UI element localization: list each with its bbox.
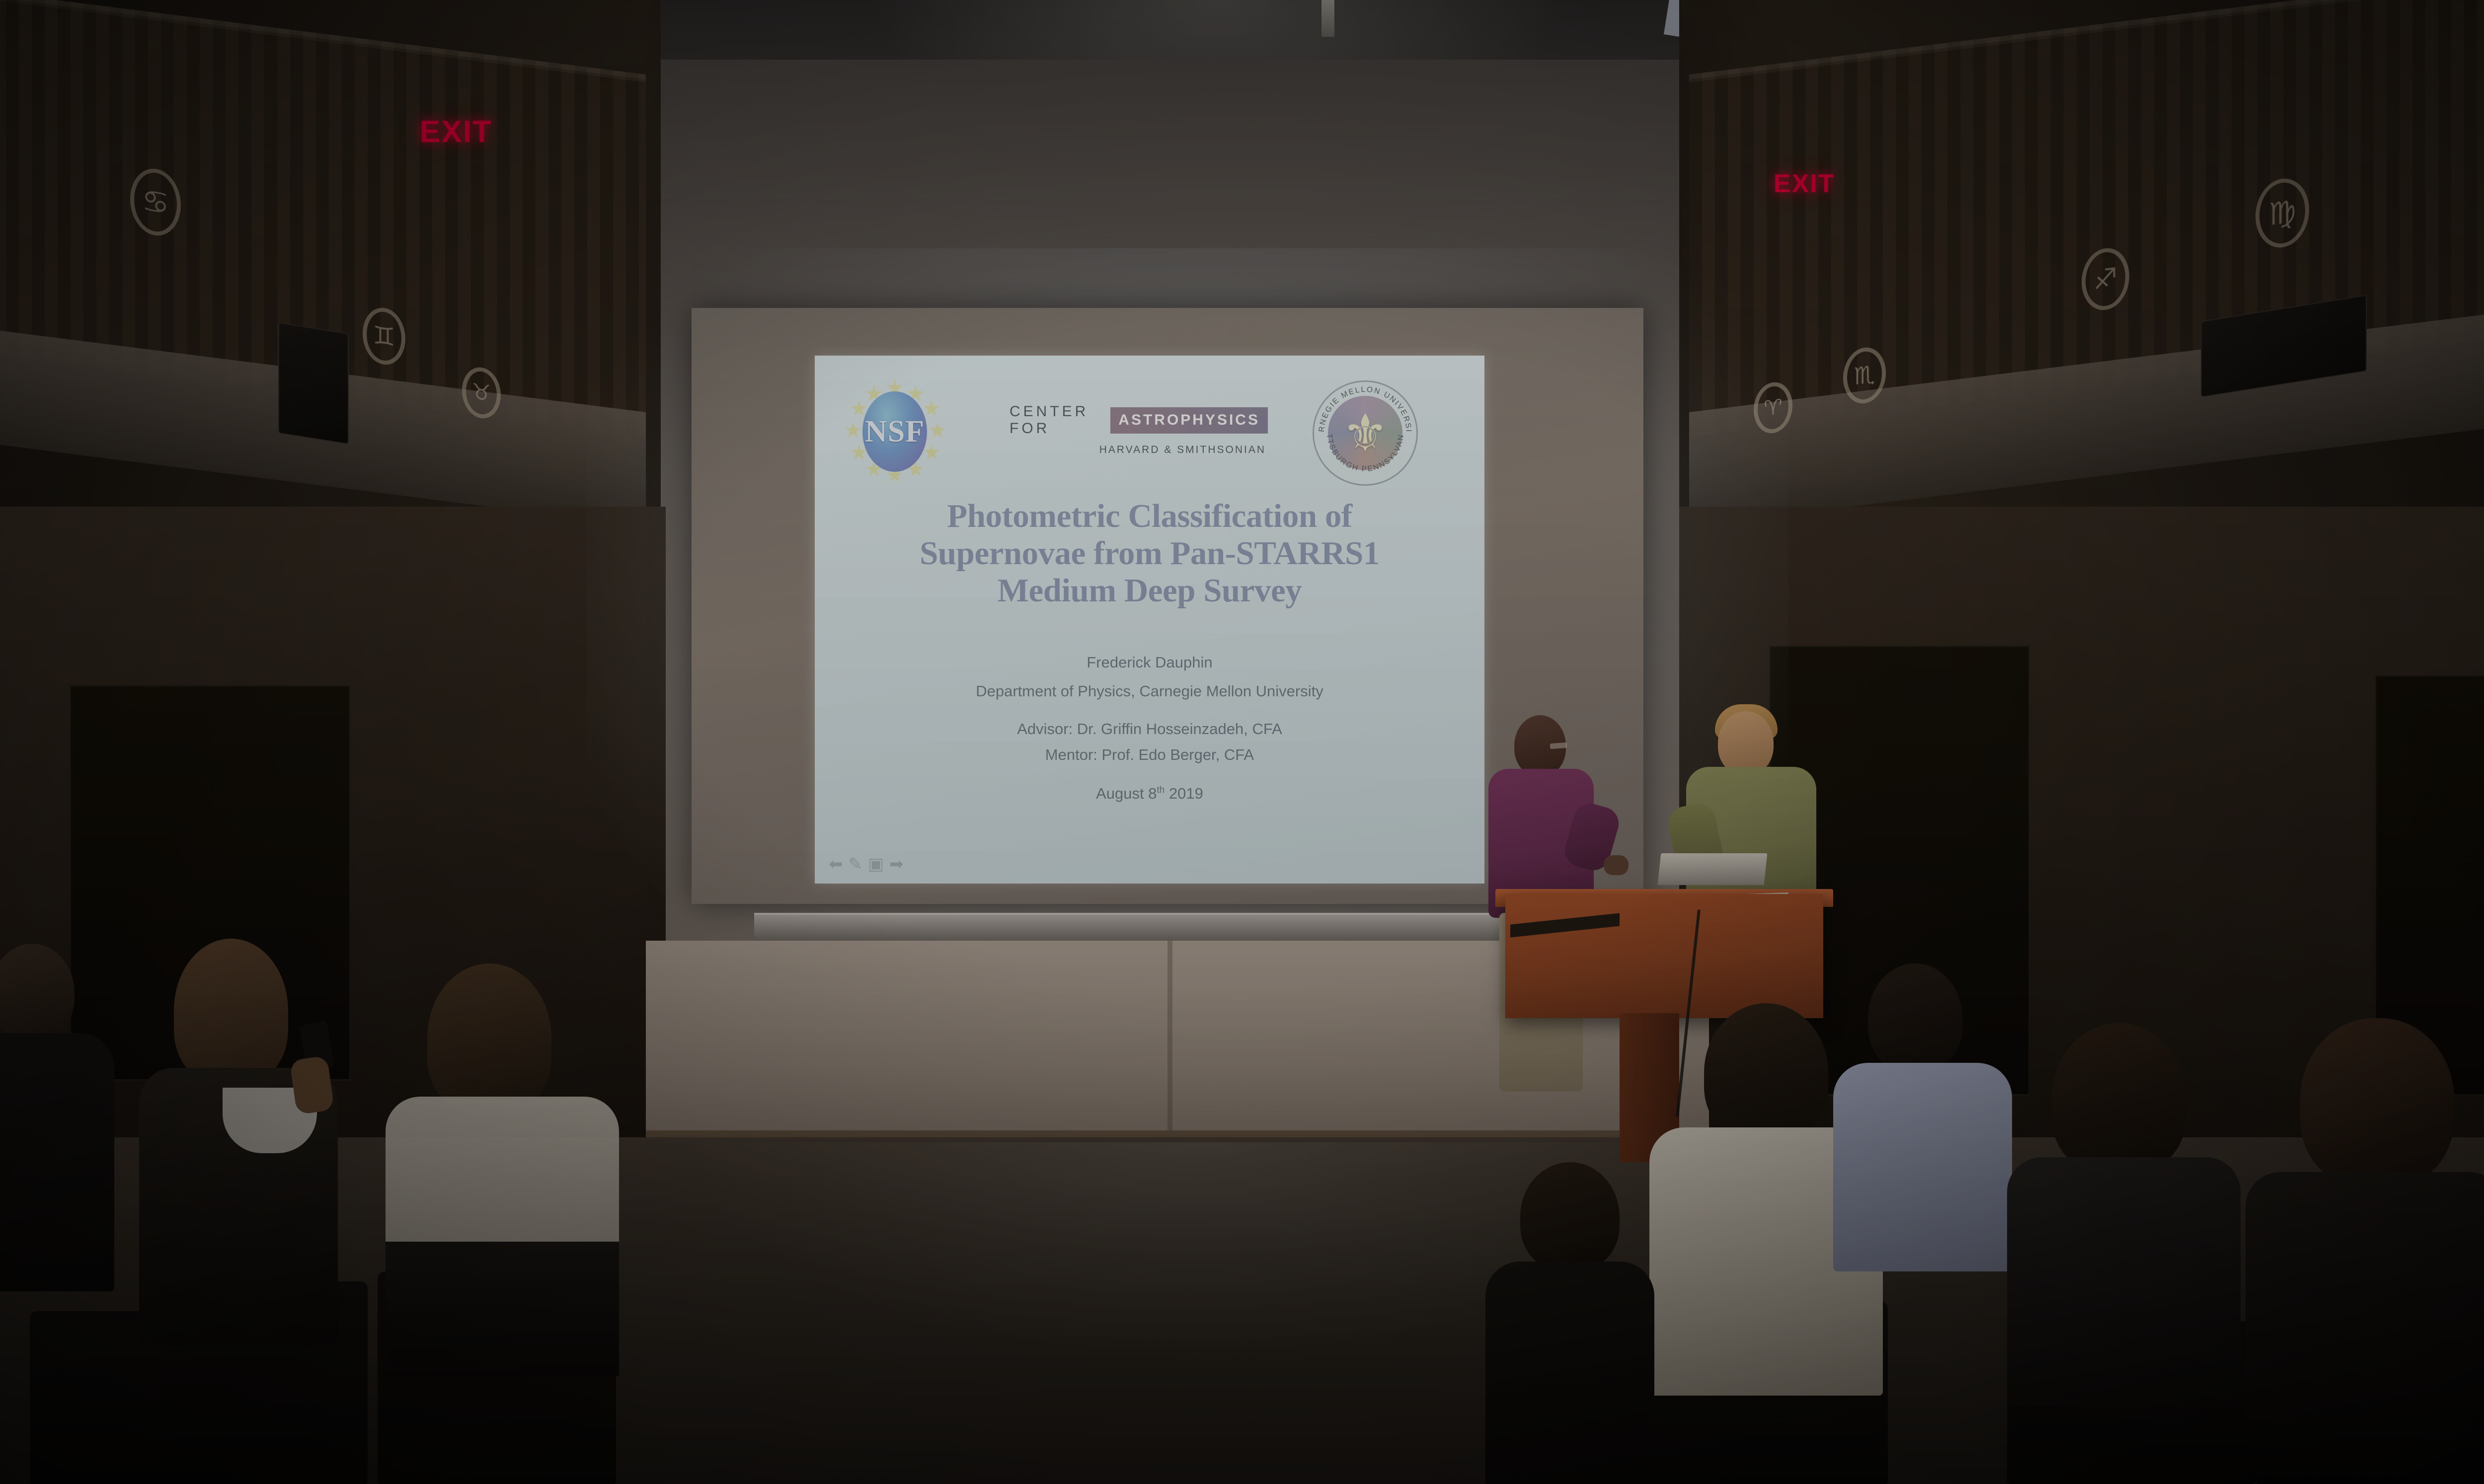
list-item	[139, 939, 348, 1336]
list-item	[368, 964, 626, 1371]
slide-menu-icon[interactable]: ▣	[868, 856, 884, 873]
audience-head	[1520, 1162, 1620, 1271]
svg-text:CARNEGIE MELLON UNIVERSITY: CARNEGIE MELLON UNIVERSITY	[1314, 382, 1413, 433]
audience-torso	[0, 1033, 114, 1291]
slide-date-ordinal: th	[1157, 785, 1164, 796]
audience-blue-shirt	[1833, 1063, 2012, 1271]
exit-sign-left: EXIT	[420, 114, 492, 149]
presenter-glasses	[1550, 742, 1567, 749]
next-slide-icon[interactable]: ➡	[889, 856, 904, 873]
audience-head	[2300, 1018, 2454, 1187]
lecture-hall-photo: ♋ ♊ ♉ ♈ ♏ ♐ ♍ ♎ EXIT EXIT	[0, 0, 2484, 1484]
cmu-seal: ⚜ CARNEGIE MELLON UNIVERSITY PITTSBURGH …	[1313, 380, 1418, 486]
list-item	[1490, 1162, 1649, 1484]
slide-title-line-2: Supernovae from Pan-STARRS1	[845, 535, 1455, 572]
list-item	[0, 944, 129, 1291]
slide-title-line-3: Medium Deep Survey	[845, 572, 1455, 609]
slide-date-suffix: 2019	[1164, 785, 1203, 802]
audience-head	[1704, 1003, 1828, 1142]
svg-text:PITTSBURGH PENNSYLVANIA: PITTSBURGH PENNSYLVANIA	[1314, 382, 1405, 473]
audience-head	[1868, 964, 1962, 1073]
slide-date: August 8th 2019	[815, 785, 1484, 803]
powerpoint-controls: ⬅ ✎ ▣ ➡	[829, 856, 904, 873]
audience-torso	[2246, 1172, 2484, 1420]
nsf-logo: NSF	[849, 382, 941, 480]
slide-mentor: Mentor: Prof. Edo Berger, CFA	[815, 746, 1484, 764]
audience-head	[174, 939, 288, 1083]
cfa-astrophysics-badge: ASTROPHYSICS	[1118, 412, 1260, 428]
audience-arm	[290, 1055, 335, 1115]
whiteboard-tray	[754, 913, 1504, 943]
slide-affiliation: Department of Physics, Carnegie Mellon U…	[815, 682, 1484, 700]
exit-sign-right: EXIT	[1774, 169, 1835, 199]
audience-head	[427, 964, 551, 1113]
cfa-logo: CENTER FOR ASTROPHYSICS HARVARD & SMITHS…	[1009, 403, 1268, 468]
audience-torso	[1485, 1261, 1654, 1484]
podium	[1505, 894, 1823, 1018]
cfa-harvard-smithsonian-text: HARVARD & SMITHSONIAN	[1009, 444, 1268, 456]
slide-author: Frederick Dauphin	[815, 654, 1484, 671]
slide-title: Photometric Classification of Supernovae…	[815, 498, 1484, 609]
presenter-hand	[1604, 855, 1629, 875]
list-item	[2226, 1018, 2484, 1415]
list-item	[1997, 1023, 2255, 1401]
moderator-head	[1718, 711, 1774, 775]
cfa-center-for-text: CENTER FOR	[1009, 403, 1103, 437]
wall-speaker-left	[278, 322, 349, 445]
slide-date-prefix: August 8	[1096, 785, 1157, 802]
slide-title-line-1: Photometric Classification of	[845, 498, 1455, 535]
previous-slide-icon[interactable]: ⬅	[829, 856, 843, 873]
audience-torso	[386, 1242, 619, 1376]
ceiling-light-fixture	[1321, 0, 1334, 37]
presentation-slide: NSF CENTER FOR ASTROPHYSICS HARVARD & SM…	[815, 356, 1484, 884]
audience-head	[2052, 1023, 2186, 1172]
audience-dark-top	[2007, 1157, 2241, 1406]
nsf-wordmark: NSF	[865, 414, 925, 449]
laptop	[1658, 853, 1768, 885]
slide-logo-row: NSF CENTER FOR ASTROPHYSICS HARVARD & SM…	[815, 377, 1484, 482]
cmu-seal-bottom-text: PITTSBURGH PENNSYLVANIA	[1314, 382, 1405, 473]
audience-head	[0, 944, 75, 1043]
slide-advisor: Advisor: Dr. Griffin Hosseinzadeh, CFA	[815, 720, 1484, 738]
cmu-seal-top-text: CARNEGIE MELLON UNIVERSITY	[1314, 382, 1413, 433]
pen-tool-icon[interactable]: ✎	[849, 856, 863, 873]
slide-byline: Frederick Dauphin Department of Physics,…	[815, 654, 1484, 803]
